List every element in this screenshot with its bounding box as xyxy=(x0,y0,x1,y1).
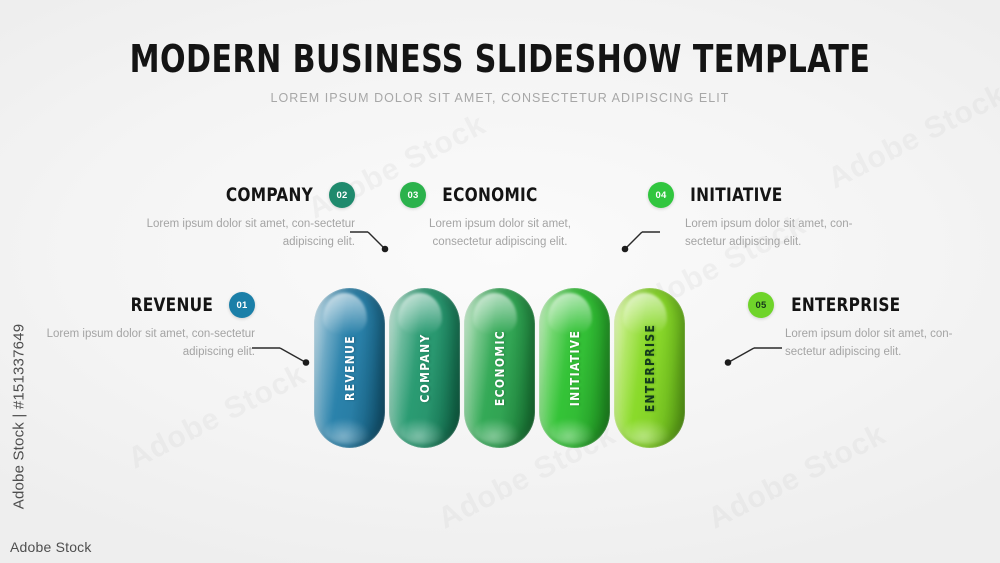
step-badge-01[interactable]: 01 xyxy=(229,292,255,318)
step-title-enterprise: ENTERPRISE xyxy=(791,294,900,316)
step-block-initiative: 04 INITIATIVE Lorem ipsum dolor sit amet… xyxy=(648,182,863,252)
step-block-economic: 03 ECONOMIC Lorem ipsum dolor sit amet, … xyxy=(400,182,600,252)
step-badge-02[interactable]: 02 xyxy=(329,182,355,208)
watermark-side: Adobe Stock | #151337649 xyxy=(11,277,28,557)
step-title-economic: ECONOMIC xyxy=(442,184,537,206)
step-badge-05[interactable]: 05 xyxy=(748,292,774,318)
step-badge-04[interactable]: 04 xyxy=(648,182,674,208)
pill-label-enterprise: ENTERPRISE xyxy=(643,324,657,412)
step-description-economic: Lorem ipsum dolor sit amet, consectetur … xyxy=(400,216,600,252)
pill-bounce-light xyxy=(400,418,445,444)
pill-gloss-highlight xyxy=(398,293,441,335)
step-header-economic: 03 ECONOMIC xyxy=(400,182,600,208)
step-description-revenue: Lorem ipsum dolor sit amet, con-sectetur… xyxy=(40,326,255,362)
pill-bounce-light xyxy=(325,418,370,444)
pill-label-economic: ECONOMIC xyxy=(493,330,507,406)
pill-gloss-highlight xyxy=(473,293,516,335)
watermark-bottom: Adobe Stock xyxy=(10,539,92,555)
pill-company[interactable]: COMPANY xyxy=(389,288,460,448)
pill-gloss-highlight xyxy=(323,293,366,335)
pill-initiative[interactable]: INITIATIVE xyxy=(539,288,610,448)
pill-bounce-light xyxy=(475,418,520,444)
pill-gloss-highlight xyxy=(548,293,591,335)
pill-label-initiative: INITIATIVE xyxy=(568,330,582,406)
step-badge-03[interactable]: 03 xyxy=(400,182,426,208)
pill-bounce-light xyxy=(550,418,595,444)
pill-revenue[interactable]: REVENUE xyxy=(314,288,385,448)
step-block-enterprise: 05 ENTERPRISE Lorem ipsum dolor sit amet… xyxy=(748,292,963,362)
pill-group: REVENUE COMPANY ECONOMIC xyxy=(0,0,1000,563)
step-header-revenue: REVENUE 01 xyxy=(40,292,255,318)
step-header-initiative: 04 INITIATIVE xyxy=(648,182,863,208)
step-title-revenue: REVENUE xyxy=(131,294,214,316)
step-title-company: COMPANY xyxy=(226,184,313,206)
slide-canvas: Adobe Stock Adobe Stock Adobe Stock Adob… xyxy=(0,0,1000,563)
pill-label-revenue: REVENUE xyxy=(343,335,357,401)
pill-label-company: COMPANY xyxy=(418,333,432,402)
step-header-company: COMPANY 02 xyxy=(140,182,355,208)
step-description-enterprise: Lorem ipsum dolor sit amet, con-sectetur… xyxy=(785,326,963,362)
step-title-initiative: INITIATIVE xyxy=(690,184,782,206)
step-header-enterprise: 05 ENTERPRISE xyxy=(748,292,963,318)
step-description-initiative: Lorem ipsum dolor sit amet, con-sectetur… xyxy=(685,216,863,252)
pill-bounce-light xyxy=(625,418,670,444)
pill-economic[interactable]: ECONOMIC xyxy=(464,288,535,448)
connector-line-01 xyxy=(250,340,320,368)
pill-enterprise[interactable]: ENTERPRISE xyxy=(614,288,685,448)
step-description-company: Lorem ipsum dolor sit amet, con-sectetur… xyxy=(140,216,355,252)
step-block-company: COMPANY 02 Lorem ipsum dolor sit amet, c… xyxy=(140,182,355,252)
step-block-revenue: REVENUE 01 Lorem ipsum dolor sit amet, c… xyxy=(40,292,255,362)
